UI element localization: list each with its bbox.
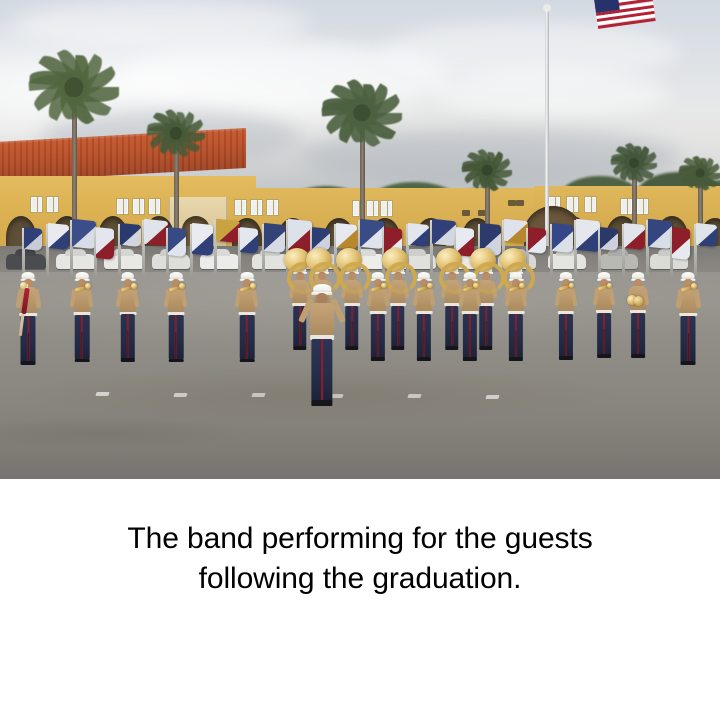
shoes	[169, 359, 184, 363]
deck-dash	[95, 392, 109, 396]
trumpet-bell	[85, 283, 91, 289]
building-window	[250, 199, 263, 216]
palm-crown	[460, 153, 514, 186]
parked-car	[6, 254, 46, 269]
flag-cloth	[24, 227, 42, 251]
building-window	[266, 199, 279, 216]
parked-car	[200, 254, 240, 269]
parked-car	[56, 254, 96, 269]
shoes	[631, 354, 645, 358]
building-window	[132, 198, 145, 215]
palm-crown	[26, 58, 122, 118]
parked-car	[600, 254, 638, 269]
flag-cloth	[552, 223, 573, 253]
flag-staff	[70, 220, 73, 276]
flag-staff	[430, 220, 433, 276]
uniform-trousers	[345, 306, 359, 347]
building-window	[148, 198, 161, 215]
flag-staff	[214, 220, 217, 276]
flag-cloth	[408, 223, 429, 247]
band-member	[163, 272, 188, 365]
palm-crown	[678, 160, 720, 187]
uniform-trousers	[597, 313, 611, 355]
flag-cloth	[624, 223, 645, 250]
flag-cloth	[96, 227, 114, 260]
palm-crown-center	[629, 158, 639, 168]
building-window	[30, 196, 43, 213]
trumpet-bell	[691, 283, 697, 289]
shoes	[121, 358, 135, 362]
band-member	[626, 272, 650, 360]
shoes	[597, 354, 611, 358]
flagpole	[545, 8, 549, 250]
flag-staff	[118, 224, 121, 276]
palm-crown	[319, 86, 405, 139]
shoes	[559, 356, 573, 360]
flag-cloth	[168, 227, 186, 257]
deck-dash	[485, 395, 499, 399]
flag-cloth	[72, 219, 96, 250]
palm-crown-center	[482, 165, 493, 176]
building-window	[116, 198, 129, 215]
flag-cloth	[672, 227, 690, 260]
uniform-trousers	[463, 314, 477, 358]
flag-staff	[622, 224, 625, 276]
shoes	[509, 357, 523, 361]
flag-cloth	[696, 223, 717, 247]
building-window	[234, 199, 247, 216]
shoes	[240, 359, 255, 363]
palm-crown-center	[696, 169, 705, 178]
flag-staff	[238, 228, 241, 276]
caption-area: The band performing for the guests follo…	[0, 479, 720, 720]
flag-cloth	[528, 227, 546, 254]
flag-cloth	[264, 223, 285, 253]
shoes	[75, 359, 90, 363]
flagpole-finial-icon	[543, 4, 551, 12]
band-member	[675, 272, 701, 368]
caption-line-2: following the graduation.	[199, 562, 522, 595]
band-member	[116, 272, 141, 364]
band-member	[15, 272, 41, 368]
flag-cloth	[240, 227, 258, 254]
trumpet-bell	[519, 283, 525, 289]
flag-cloth	[192, 223, 213, 256]
flag-staff	[670, 228, 673, 276]
building-window	[636, 198, 649, 215]
flag-staff	[46, 224, 49, 276]
shoes	[417, 357, 431, 361]
trumpet-bell	[427, 283, 433, 289]
band-member	[366, 272, 391, 363]
flag-staff	[598, 228, 601, 276]
flag-cloth	[48, 223, 69, 250]
trumpet-bell	[381, 283, 387, 289]
band-member	[69, 272, 94, 365]
band-member	[554, 272, 578, 362]
flag-staff	[142, 220, 145, 276]
flag-staff	[190, 224, 193, 276]
trumpet-bell	[473, 283, 479, 289]
flag-staff	[262, 224, 265, 276]
band-member	[592, 272, 616, 360]
shoes	[463, 357, 477, 361]
flag-cloth	[432, 219, 456, 247]
uniform-trousers	[371, 314, 385, 358]
uniform-trousers	[391, 306, 405, 347]
deck-dash	[173, 393, 187, 397]
shoes	[21, 361, 36, 365]
flag-staff	[550, 224, 553, 276]
band-member	[458, 272, 483, 363]
uniform-trousers	[417, 314, 431, 358]
page-root: The band performing for the guests follo…	[0, 0, 720, 720]
band-member	[234, 272, 259, 365]
building-window	[584, 196, 597, 213]
deck-dash	[251, 393, 265, 397]
flag-staff	[166, 228, 169, 276]
cloud	[10, 0, 310, 48]
uniform-trousers	[509, 314, 523, 358]
conductor-shoes	[311, 400, 332, 406]
conductor-shirt	[310, 303, 334, 337]
uniform-trousers	[631, 313, 645, 355]
building-window	[366, 200, 379, 217]
uniform-trousers	[681, 316, 696, 362]
uniform-trousers	[559, 314, 573, 357]
trumpet-bell	[179, 283, 185, 289]
shoes	[345, 346, 359, 350]
building-vent	[508, 200, 516, 206]
trumpet-bell	[131, 283, 137, 289]
flag-cloth	[504, 219, 528, 244]
band-member	[504, 272, 529, 363]
flag-cloth	[216, 219, 240, 244]
uniform-trousers	[169, 315, 184, 360]
caption-text: The band performing for the guests follo…	[127, 519, 592, 599]
flag-cloth	[600, 227, 618, 251]
flag-staff	[574, 220, 577, 276]
shoes	[391, 346, 405, 350]
cymbal-icon	[634, 296, 643, 305]
building-window	[380, 200, 393, 217]
band-member	[412, 272, 437, 363]
shoes	[371, 357, 385, 361]
uniform-trousers	[240, 315, 255, 360]
parked-car	[152, 254, 190, 269]
flag-cloth	[336, 223, 357, 250]
palm-crown	[145, 114, 207, 152]
flag-cloth	[576, 219, 600, 253]
conductor-trousers	[311, 339, 332, 402]
flag-staff	[94, 228, 97, 276]
flag-staff	[694, 224, 697, 276]
flag-cloth	[144, 219, 168, 247]
trumpet-bell	[250, 283, 256, 289]
uniform-trousers	[75, 315, 90, 360]
flag-cloth	[288, 219, 312, 253]
building-vent	[462, 210, 470, 216]
band-conductor	[303, 284, 341, 409]
building-window	[46, 196, 59, 213]
palm-crown	[609, 147, 659, 178]
caption-line-1: The band performing for the guests	[127, 522, 592, 555]
flag-cloth	[648, 219, 672, 250]
building-vent	[516, 200, 524, 206]
photograph	[0, 0, 720, 479]
flag-cloth	[360, 219, 384, 250]
deck-dash	[407, 394, 421, 398]
uniform-trousers	[121, 314, 135, 358]
shoes	[681, 361, 696, 365]
parked-car	[548, 254, 586, 269]
flag-staff	[646, 220, 649, 276]
flag-staff	[22, 228, 25, 276]
flag-cloth	[120, 223, 141, 247]
cloud	[430, 70, 670, 116]
